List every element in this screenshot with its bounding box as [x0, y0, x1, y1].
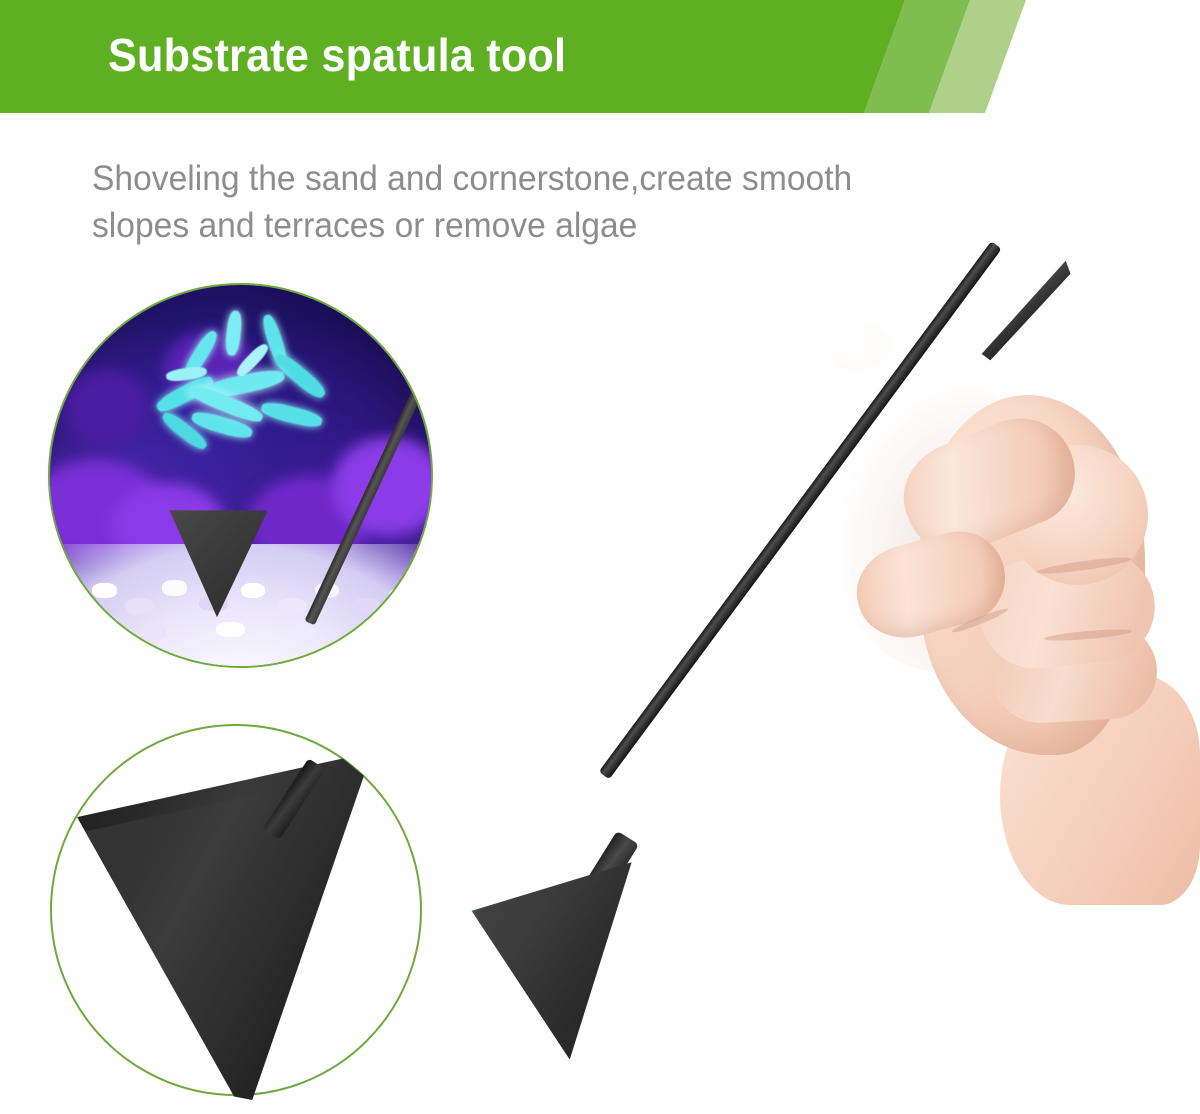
cyan-coral — [141, 315, 347, 490]
inset-blade-closeup — [68, 755, 408, 1100]
subtitle-line-1: Shoveling the sand and cornerstone,creat… — [92, 155, 1090, 202]
product-photo — [430, 215, 1200, 1085]
header-banner: Substrate spatula tool — [0, 0, 1200, 113]
hand-thumbnail — [825, 317, 897, 378]
spatula-blade-edge — [467, 862, 646, 1063]
page-title: Substrate spatula tool — [108, 22, 566, 88]
product-feature-image: Substrate spatula tool Shoveling the san… — [0, 0, 1200, 1114]
inset-aquarium-usage-photo — [48, 283, 433, 668]
hand-holding-tool — [830, 325, 1200, 885]
